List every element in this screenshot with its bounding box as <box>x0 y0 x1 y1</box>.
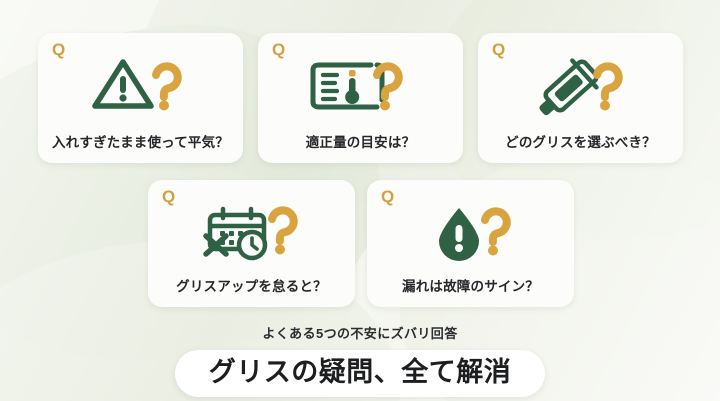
calendar-clock-question-icon <box>148 202 355 264</box>
question-card[interactable]: Q <box>148 180 355 307</box>
question-card[interactable]: Q 入れすぎたまま使って平気？ <box>38 33 243 163</box>
grease-gun-question-icon <box>478 55 683 117</box>
question-card[interactable]: Q 漏れは故障のサイン？ <box>367 180 574 307</box>
footer-title: グリスの疑問、全て解消 <box>209 357 512 388</box>
droplet-alert-question-icon <box>367 202 574 264</box>
question-label: 入れすぎたまま使って平気？ <box>42 131 239 151</box>
question-label: どのグリスを選ぶべき？ <box>482 131 679 151</box>
question-label: 漏れは故障のサイン？ <box>371 275 570 295</box>
warning-triangle-question-icon <box>38 55 243 117</box>
gauge-panel-question-icon <box>258 55 463 117</box>
slide-canvas: Q 入れすぎたまま使って平気？ Q <box>0 0 720 401</box>
question-card[interactable]: Q 適正量の目安は？ <box>258 33 463 163</box>
question-label: 適正量の目安は？ <box>262 131 459 151</box>
question-label: グリスアップを怠ると？ <box>152 275 351 295</box>
footer-subtitle: よくある5つの不安にズバリ回答 <box>0 323 720 342</box>
footer-title-pill: グリスの疑問、全て解消 <box>175 350 546 397</box>
question-card[interactable]: Q どのグリスを選ぶべき？ <box>478 33 683 163</box>
footer-block: よくある5つの不安にズバリ回答 グリスの疑問、全て解消 <box>0 323 720 401</box>
